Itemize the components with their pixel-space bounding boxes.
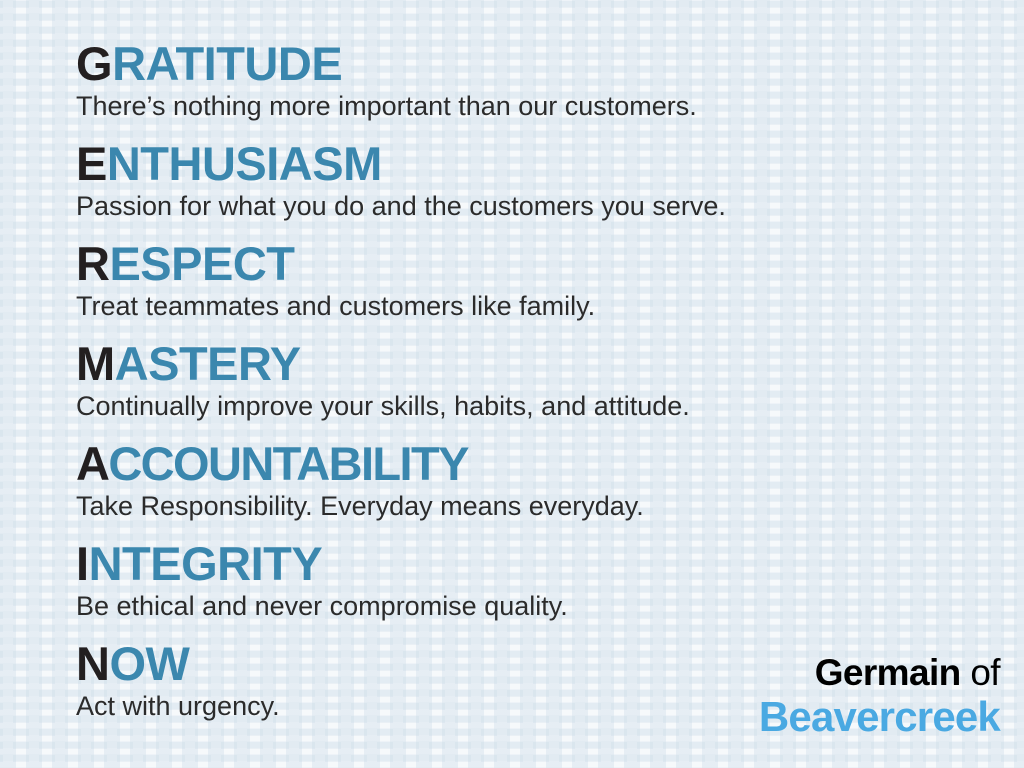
value-heading-initial: I <box>76 537 89 590</box>
value-heading-initial: E <box>76 137 107 190</box>
value-heading-rest: OW <box>109 637 189 690</box>
value-heading: ACCOUNTABILITY <box>76 440 644 487</box>
value-heading: INTEGRITY <box>76 540 568 587</box>
logo-location-name: Beavercreek <box>759 694 1000 740</box>
value-heading-rest: NTHUSIASM <box>107 137 382 190</box>
value-heading: MASTERY <box>76 340 690 387</box>
logo-brand-name: Germain <box>815 652 961 693</box>
value-heading: RESPECT <box>76 240 595 287</box>
value-heading-initial: A <box>76 437 108 490</box>
value-description: Passion for what you do and the customer… <box>76 191 726 221</box>
value-description: Act with urgency. <box>76 691 280 721</box>
value-heading-rest: ESPECT <box>109 237 294 290</box>
logo-connector-word: of <box>970 652 1000 693</box>
brand-logo: Germain of Beavercreek <box>759 652 1000 740</box>
slide-content: GRATITUDEThere’s nothing more important … <box>0 0 1024 768</box>
value-block: INTEGRITYBe ethical and never compromise… <box>76 540 568 621</box>
value-heading-initial: G <box>76 37 112 90</box>
value-heading: ENTHUSIASM <box>76 140 726 187</box>
value-block: ACCOUNTABILITYTake Responsibility. Every… <box>76 440 644 521</box>
value-heading-rest: CCOUNTABILITY <box>108 437 468 490</box>
value-block: ENTHUSIASMPassion for what you do and th… <box>76 140 726 221</box>
value-block: RESPECTTreat teammates and customers lik… <box>76 240 595 321</box>
value-block: GRATITUDEThere’s nothing more important … <box>76 40 697 121</box>
value-heading-initial: R <box>76 237 109 290</box>
value-description: There’s nothing more important than our … <box>76 91 697 121</box>
value-heading: NOW <box>76 640 280 687</box>
logo-line-one: Germain of <box>759 652 1000 694</box>
value-description: Continually improve your skills, habits,… <box>76 391 690 421</box>
value-description: Take Responsibility. Everyday means ever… <box>76 491 644 521</box>
value-heading-initial: M <box>76 337 115 390</box>
values-slide: GRATITUDEThere’s nothing more important … <box>0 0 1024 768</box>
value-heading: GRATITUDE <box>76 40 697 87</box>
value-block: NOWAct with urgency. <box>76 640 280 721</box>
value-heading-rest: NTEGRITY <box>89 537 323 590</box>
value-description: Treat teammates and customers like famil… <box>76 291 595 321</box>
value-heading-initial: N <box>76 637 109 690</box>
value-description: Be ethical and never compromise quality. <box>76 591 568 621</box>
value-heading-rest: RATITUDE <box>112 37 342 90</box>
value-heading-rest: ASTERY <box>115 337 301 390</box>
value-block: MASTERYContinually improve your skills, … <box>76 340 690 421</box>
